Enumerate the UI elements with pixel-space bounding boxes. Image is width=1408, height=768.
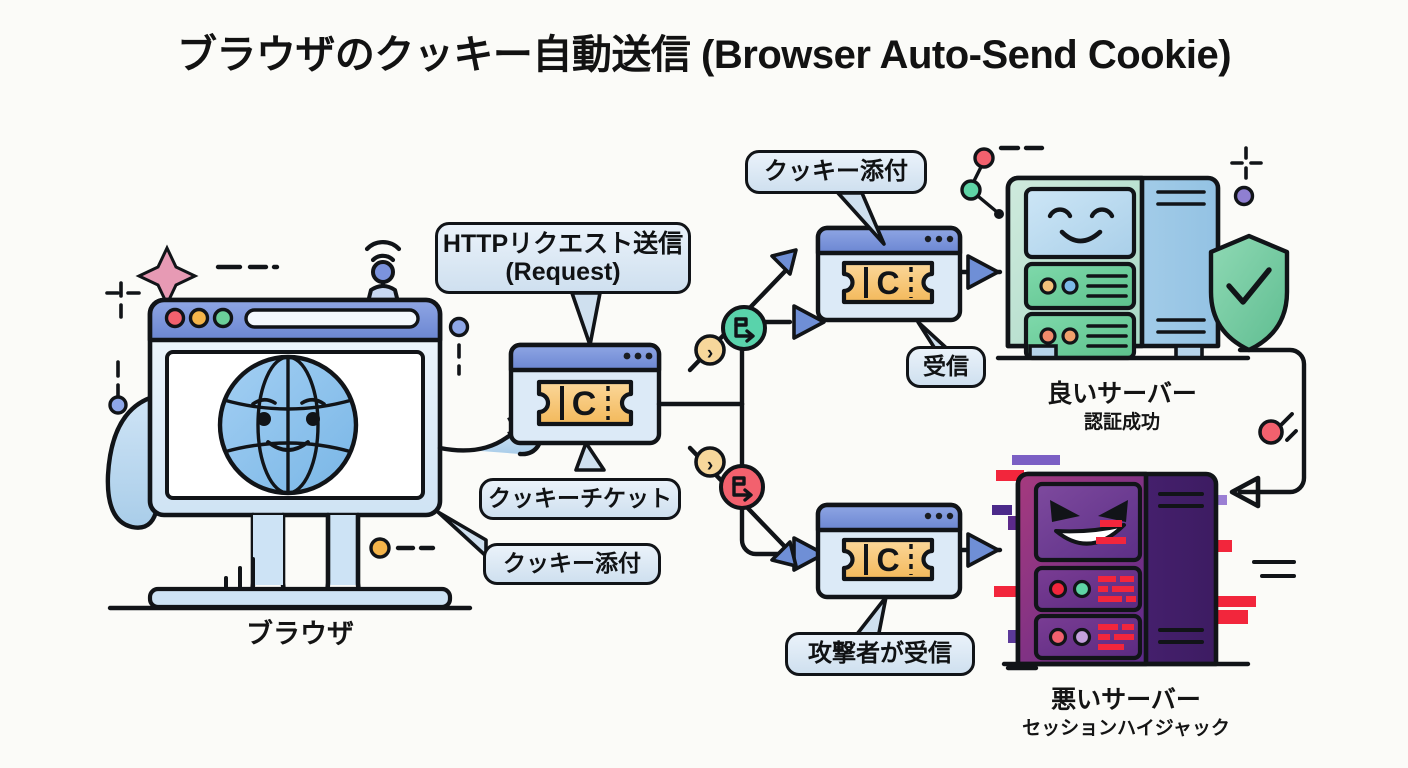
bubble-http-request-line1: HTTPリクエスト送信 [443, 230, 683, 258]
caption-good-server-status: 認証成功 [1000, 407, 1244, 434]
diagram-canvas: ブラウザのクッキー自動送信 (Browser Auto-Send Cookie) [0, 0, 1408, 768]
bubble-cookie-ticket-line1: クッキーチケット [488, 486, 672, 512]
bubble-receive-attacker: 攻撃者が受信 [785, 632, 975, 676]
bubble-cookie-attach-browser: クッキー添付 [483, 543, 661, 585]
globe-face [220, 357, 356, 493]
svg-text:C: C [876, 542, 899, 578]
caption-bad-server-status: セッションハイジャック [986, 713, 1266, 740]
bubble-cookie-attach-top: クッキー添付 [745, 150, 927, 194]
browser-character [108, 242, 540, 608]
bubble-http-request: HTTPリクエスト送信 (Request) [435, 222, 691, 294]
bubble-cookie-ticket: クッキーチケット [479, 478, 681, 520]
bad-packet-window: C [818, 505, 960, 597]
bubble-receive-good-line1: 受信 [923, 354, 969, 380]
bubble-receive-attacker-line1: 攻撃者が受信 [808, 641, 952, 668]
bubble-cookie-attach-browser-line1: クッキー添付 [503, 551, 641, 577]
svg-text:C: C [572, 385, 597, 423]
caption-bad-server-name: 悪いサーバー [1000, 680, 1252, 716]
bad-server [1004, 474, 1248, 664]
svg-text:C: C [876, 265, 899, 301]
svg-text:›: › [707, 455, 713, 476]
good-packet-window: C [818, 228, 960, 320]
svg-text:›: › [707, 343, 713, 364]
caption-browser: ブラウザ [180, 612, 420, 651]
bubble-http-request-line2: (Request) [505, 258, 620, 286]
cookie-request-window: C [511, 345, 659, 443]
caption-good-server-name: 良いサーバー [1000, 374, 1244, 410]
bubble-cookie-attach-top-line1: クッキー添付 [764, 159, 908, 186]
bubble-receive-good: 受信 [906, 346, 986, 388]
